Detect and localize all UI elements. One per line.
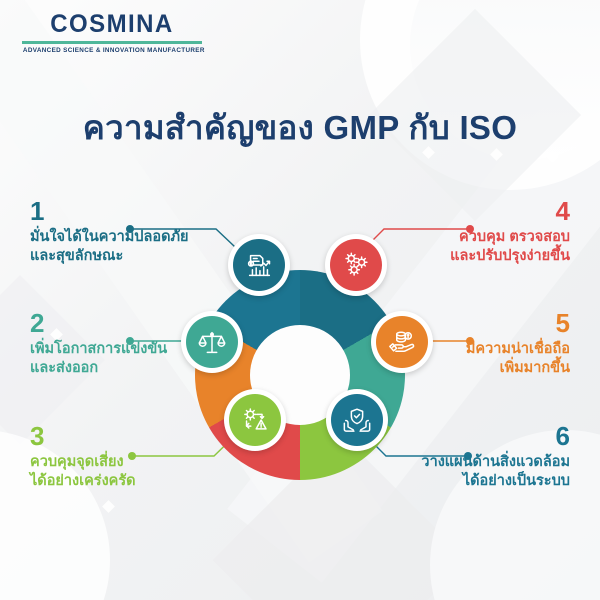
- icon-bubble-4[interactable]: [325, 234, 387, 296]
- item-text-4: ควบคุม ตรวจสอบ และปรับปรุงง่ายขึ้น: [370, 228, 570, 266]
- gears-icon: [341, 250, 371, 280]
- item-label-4: 4 ควบคุม ตรวจสอบ และปรับปรุงง่ายขึ้น: [370, 198, 570, 266]
- gear-warning-icon: [240, 405, 270, 435]
- item-label-1: 1 มั่นใจได้ในความปลอดภัย และสุขลักษณะ: [30, 198, 230, 266]
- icon-bubble-5[interactable]: [371, 311, 433, 373]
- item-text-1: มั่นใจได้ในความปลอดภัย และสุขลักษณะ: [30, 228, 230, 266]
- item-number-4: 4: [370, 198, 570, 224]
- icon-bubble-2[interactable]: [181, 311, 243, 373]
- infographic-canvas: COSMINA ADVANCED SCIENCE & INNOVATION MA…: [0, 0, 600, 600]
- report-chart-icon: [244, 250, 274, 280]
- balance-scales-icon: [197, 327, 227, 357]
- icon-bubble-3[interactable]: [224, 389, 286, 451]
- hands-shield-icon: [342, 405, 372, 435]
- icon-bubble-6[interactable]: [326, 389, 388, 451]
- donut-chart: [195, 270, 405, 480]
- icon-bubble-1[interactable]: [228, 234, 290, 296]
- hand-coins-icon: [387, 327, 417, 357]
- item-number-1: 1: [30, 198, 230, 224]
